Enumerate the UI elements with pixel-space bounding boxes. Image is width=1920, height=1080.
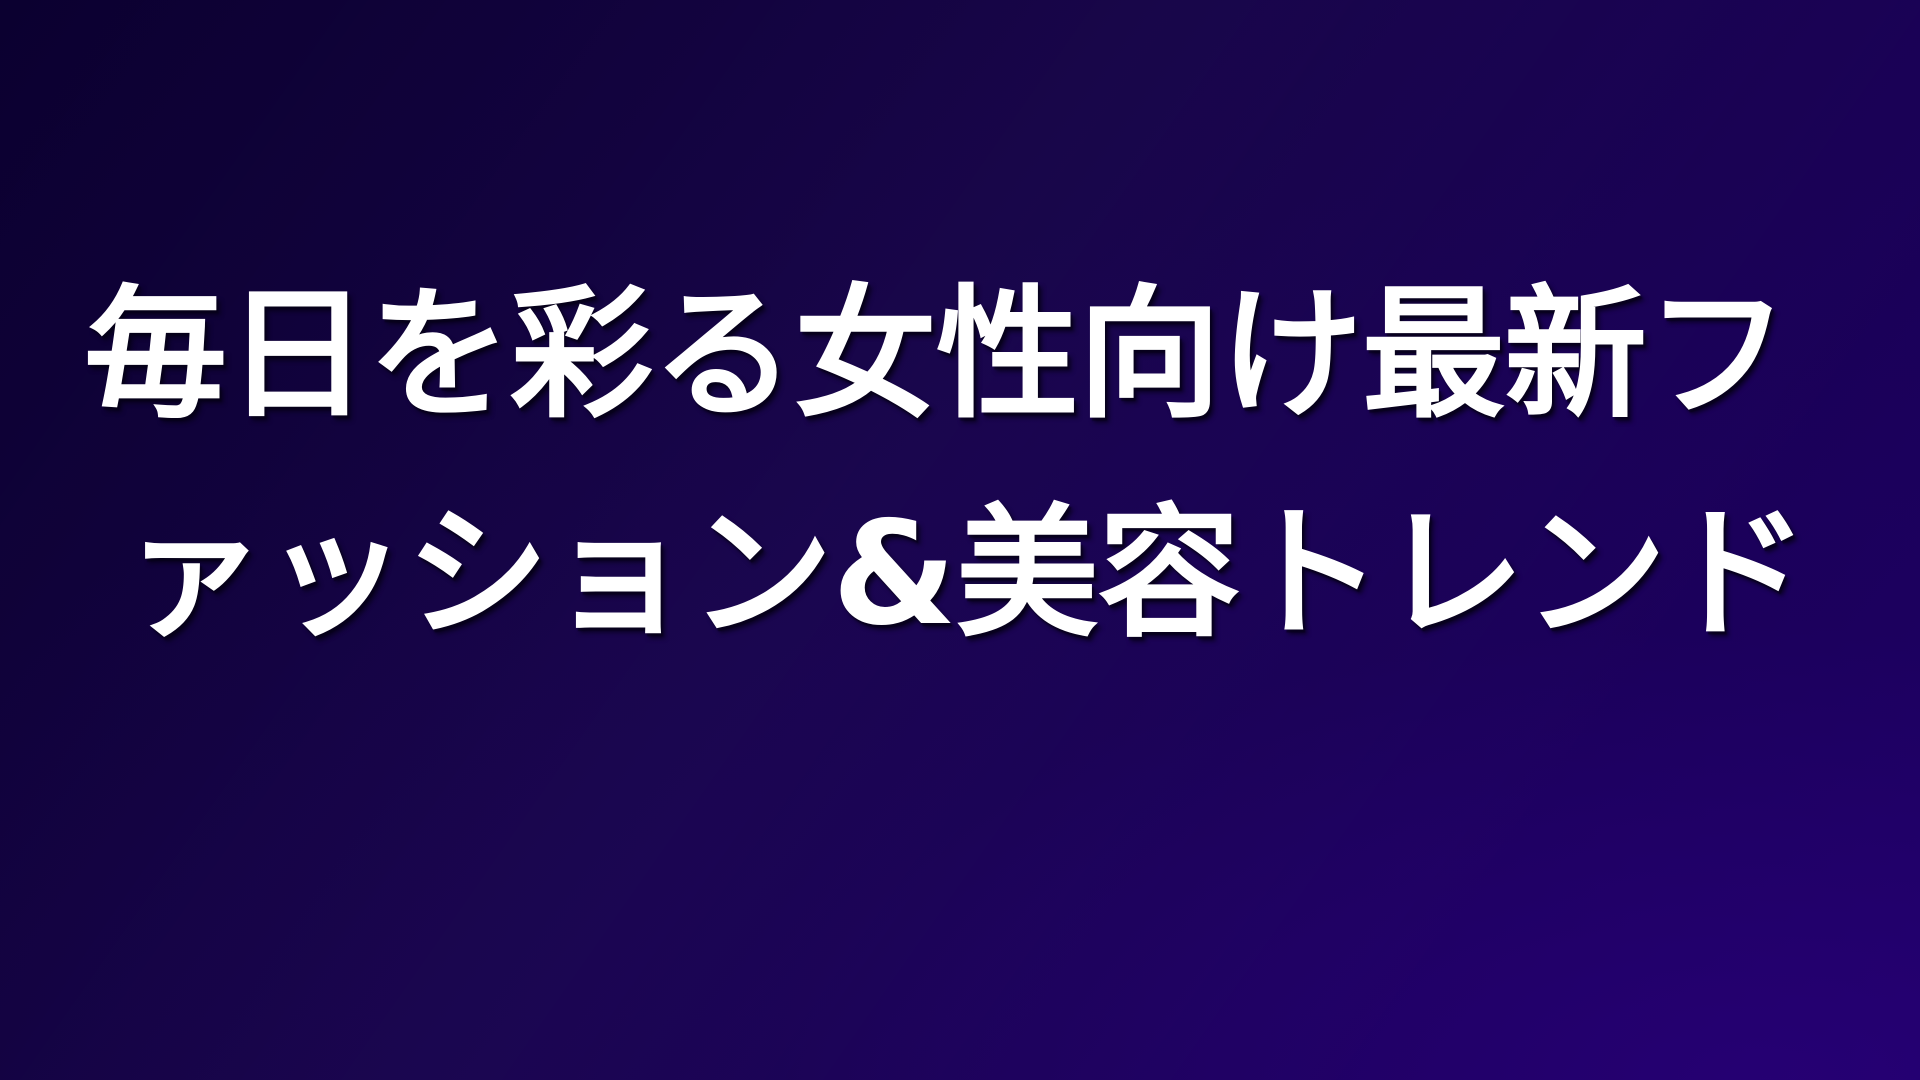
headline-line-2: ァッション&美容トレンド [84, 519, 1884, 628]
headline-line-1: 毎日を彩る女性向け最新フ [84, 300, 1884, 409]
slide-canvas: 毎日を彩る女性向け最新フ ァッション&美容トレンド [0, 0, 1920, 1080]
headline-block: 毎日を彩る女性向け最新フ ァッション&美容トレンド [84, 300, 1884, 628]
